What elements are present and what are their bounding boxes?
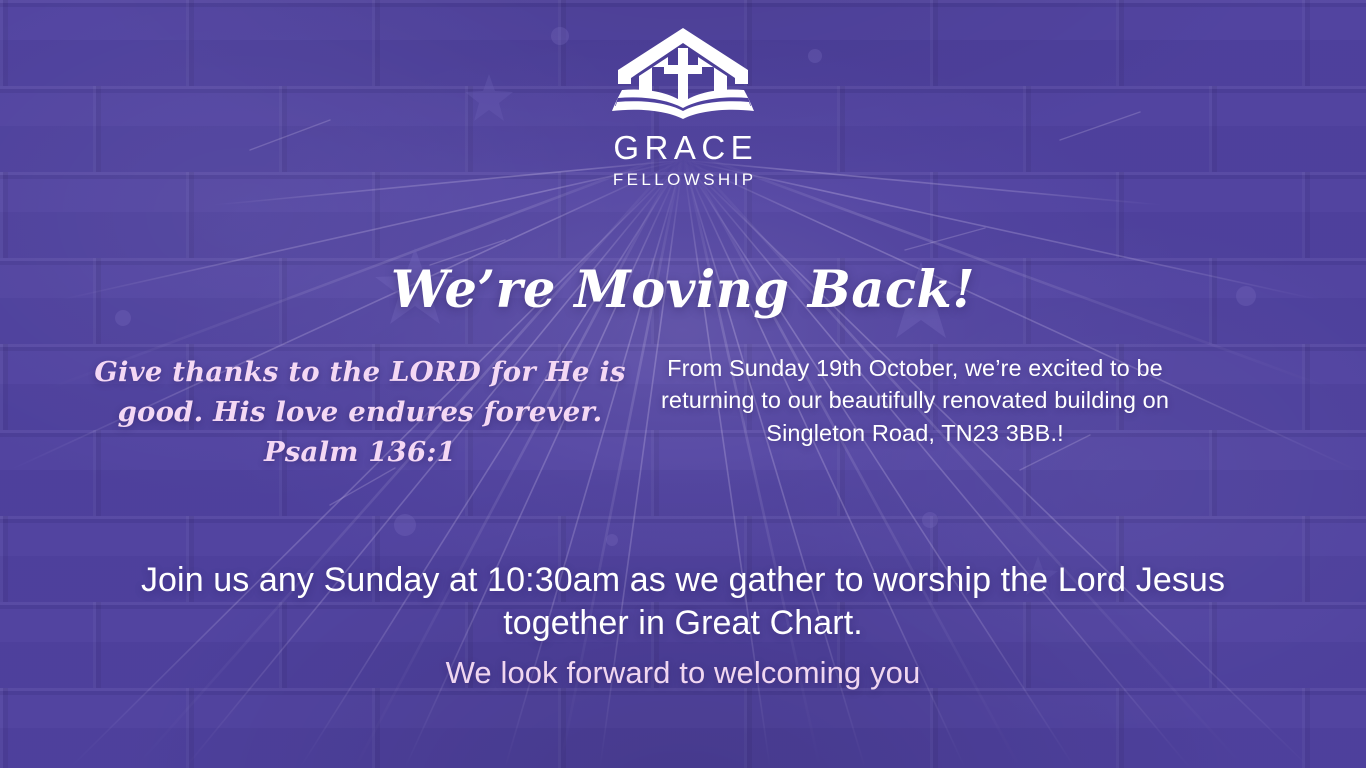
verse-line-1: Give thanks to the LORD for He is <box>94 356 625 388</box>
church-cross-open-book-icon <box>608 26 758 126</box>
scripture-column: Give thanks to the LORD for He is good. … <box>0 352 660 472</box>
announcement-line-3: beautifully renovated building on <box>829 387 1169 413</box>
scripture-verse: Give thanks to the LORD for He is good. … <box>60 352 660 472</box>
invitation-line-1: Join us any Sunday at 10:30am as we gath… <box>141 561 1225 599</box>
verse-reference: Psalm 136:1 <box>60 432 660 472</box>
verse-line-2: good. His love endures forever. <box>118 396 603 428</box>
logo-submark: FELLOWSHIP <box>610 171 757 188</box>
invitation-text: Join us any Sunday at 10:30am as we gath… <box>0 559 1366 645</box>
mid-section: Give thanks to the LORD for He is good. … <box>0 352 1366 472</box>
logo-wordmark: GRACE <box>608 131 758 164</box>
announcement-poster: GRACE FELLOWSHIP We’re Moving Back! Give… <box>0 0 1366 768</box>
announcement-line-1: From Sunday 19th October, we’re <box>667 355 1021 381</box>
invitation-line-2: together in Great Chart. <box>503 604 863 642</box>
poster-content: GRACE FELLOWSHIP We’re Moving Back! Give… <box>0 0 1366 768</box>
brand-logo: GRACE FELLOWSHIP <box>0 26 1366 188</box>
invitation-section: Join us any Sunday at 10:30am as we gath… <box>0 559 1366 693</box>
announcement-column: From Sunday 19th October, we’re excited … <box>660 352 1366 449</box>
announcement-line-4: Singleton Road, TN23 3BB.! <box>766 420 1063 446</box>
page-title: We’re Moving Back! <box>0 265 1366 316</box>
welcome-text: We look forward to welcoming you <box>0 653 1366 693</box>
announcement-text: From Sunday 19th October, we’re excited … <box>660 352 1170 449</box>
